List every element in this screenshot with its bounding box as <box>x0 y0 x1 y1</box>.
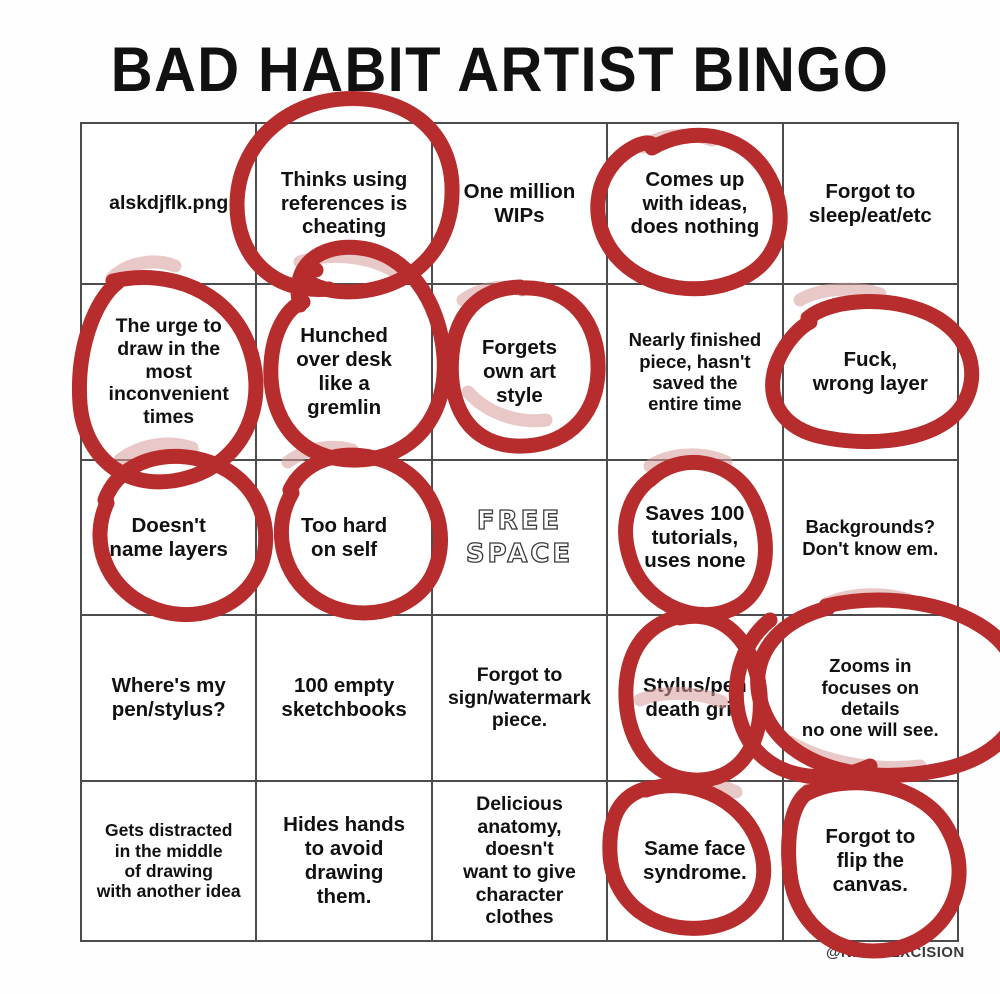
bingo-cell[interactable]: Hides hands to avoid drawing them. <box>257 782 432 942</box>
bingo-cell-label: Hunched over desk like a gremlin <box>296 324 392 419</box>
bingo-cell[interactable]: Fuck, wrong layer <box>784 285 959 461</box>
bingo-cell-label: Fuck, wrong layer <box>813 348 928 396</box>
bingo-cell-label: Nearly finished piece, hasn't saved the … <box>629 329 762 415</box>
bingo-cell[interactable]: Gets distracted in the middle of drawing… <box>82 782 257 942</box>
bingo-cell-label: Same face syndrome. <box>643 837 747 885</box>
bingo-cell[interactable]: Backgrounds? Don't know em. <box>784 461 959 616</box>
bingo-cell[interactable]: Saves 100 tutorials, uses none <box>608 461 783 616</box>
bingo-cell-label: Too hard on self <box>301 514 387 562</box>
bingo-cell[interactable]: Comes up with ideas, does nothing <box>608 124 783 285</box>
bingo-cell[interactable]: Hunched over desk like a gremlin <box>257 285 432 461</box>
bingo-cell-label: Thinks using references is cheating <box>281 168 408 239</box>
bingo-cell-label: Gets distracted in the middle of drawing… <box>97 820 241 901</box>
bingo-cell-label: 100 empty sketchbooks <box>281 674 406 722</box>
bingo-cell-label: Doesn't name layers <box>109 514 228 562</box>
bingo-cell-label: Comes up with ideas, does nothing <box>631 168 760 239</box>
bingo-cell[interactable]: Too hard on self <box>257 461 432 616</box>
bingo-cell[interactable]: Delicious anatomy, doesn't want to give … <box>433 782 608 942</box>
bingo-cell-label: Hides hands to avoid drawing them. <box>283 813 405 908</box>
bingo-cell[interactable]: The urge to draw in the most inconvenien… <box>82 285 257 461</box>
bingo-cell-label: Forgot to sleep/eat/etc <box>809 180 932 228</box>
bingo-cell[interactable]: FREE SPACE <box>433 461 608 616</box>
bingo-cell-label: Where's my pen/stylus? <box>112 674 226 722</box>
page-title: BAD HABIT ARTIST BINGO <box>40 34 960 106</box>
bingo-cell-label: Forgot to flip the canvas. <box>825 825 915 896</box>
bingo-cell-label: Delicious anatomy, doesn't want to give … <box>463 793 576 929</box>
bingo-cell[interactable]: One million WIPs <box>433 124 608 285</box>
bingo-cell[interactable]: Zooms in focuses on details no one will … <box>784 616 959 782</box>
bingo-cell-label: The urge to draw in the most inconvenien… <box>109 315 229 428</box>
bingo-cell[interactable]: Stylus/pen death grip <box>608 616 783 782</box>
bingo-cell[interactable]: 100 empty sketchbooks <box>257 616 432 782</box>
bingo-cell[interactable]: Doesn't name layers <box>82 461 257 616</box>
bingo-cell-label: Saves 100 tutorials, uses none <box>644 502 745 573</box>
bingo-cell[interactable]: Same face syndrome. <box>608 782 783 942</box>
bingo-cell[interactable]: Forgets own art style <box>433 285 608 461</box>
free-space-label: FREE SPACE <box>466 505 573 570</box>
bingo-card-page: BAD HABIT ARTIST BINGO alskdjflk.pngThin… <box>0 0 1000 994</box>
artist-watermark: @NIGHTEXCISION <box>826 944 965 961</box>
bingo-cell-label: Zooms in focuses on details no one will … <box>802 655 939 741</box>
bingo-cell[interactable]: Thinks using references is cheating <box>257 124 432 285</box>
bingo-grid: alskdjflk.pngThinks using references is … <box>80 122 959 942</box>
bingo-cell-label: Backgrounds? Don't know em. <box>802 516 938 559</box>
bingo-cell-label: Forgets own art style <box>482 336 557 407</box>
bingo-cell[interactable]: Nearly finished piece, hasn't saved the … <box>608 285 783 461</box>
bingo-cell-label: Forgot to sign/watermark piece. <box>448 664 591 732</box>
bingo-cell[interactable]: Forgot to sign/watermark piece. <box>433 616 608 782</box>
bingo-cell[interactable]: Forgot to sleep/eat/etc <box>784 124 959 285</box>
bingo-cell-label: Stylus/pen death grip <box>643 674 747 722</box>
bingo-cell[interactable]: alskdjflk.png <box>82 124 257 285</box>
bingo-cell[interactable]: Forgot to flip the canvas. <box>784 782 959 942</box>
bingo-cell-label: One million WIPs <box>464 180 576 228</box>
bingo-cell[interactable]: Where's my pen/stylus? <box>82 616 257 782</box>
bingo-cell-label: alskdjflk.png <box>109 192 228 215</box>
